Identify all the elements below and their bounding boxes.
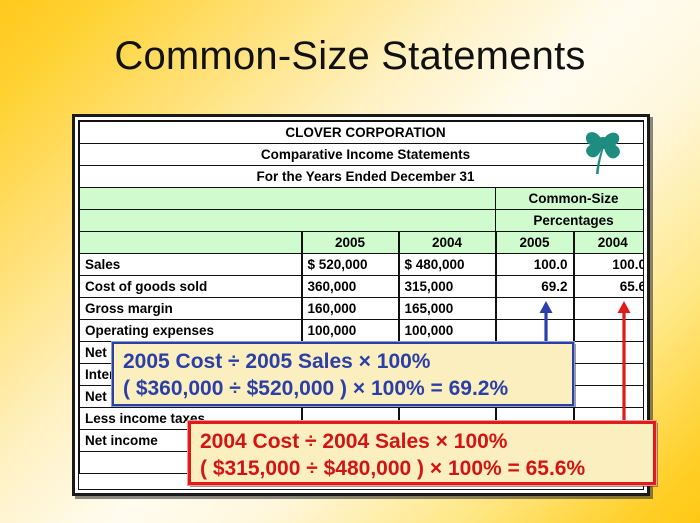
column-header-percent-2004: 2004 (574, 232, 645, 254)
row-percent-2004 (574, 320, 645, 342)
table-row: Operating expenses 100,000 100,000 (80, 320, 645, 342)
row-percent-2004 (574, 364, 645, 386)
table-row: Sales $ 520,000 $ 480,000 100.0 100.0 (80, 254, 645, 276)
row-percent-2005 (496, 320, 574, 342)
statement-period: For the Years Ended December 31 (80, 166, 645, 188)
row-percent-2004: 100.0 (574, 254, 645, 276)
column-header-row: 2005 2004 2005 2004 (80, 232, 645, 254)
column-header-amount-2005: 2005 (302, 232, 399, 254)
page-title: Common-Size Statements (0, 34, 700, 79)
blue-formula-line1: 2005 Cost ÷ 2005 Sales × 100% (123, 348, 563, 375)
blue-formula-callout: 2005 Cost ÷ 2005 Sales × 100% ( $360,000… (112, 342, 574, 406)
statement-subtitle: Comparative Income Statements (80, 144, 645, 166)
blue-formula-line2: ( $360,000 ÷ $520,000 ) × 100% = 69.2% (123, 375, 563, 402)
row-amount-2005: $ 520,000 (302, 254, 399, 276)
row-amount-2005: 100,000 (302, 320, 399, 342)
statement-title-row-period: For the Years Ended December 31 (80, 166, 645, 188)
red-formula-line1: 2004 Cost ÷ 2004 Sales × 100% (200, 428, 644, 455)
row-percent-2004 (574, 342, 645, 364)
column-header-percent-2005: 2005 (496, 232, 574, 254)
group-header-spacer-2 (80, 210, 496, 232)
row-percent-2005 (496, 298, 574, 320)
column-header-blank (80, 232, 302, 254)
row-amount-2004: 100,000 (399, 320, 496, 342)
table-row: Cost of goods sold 360,000 315,000 69.2 … (80, 276, 645, 298)
row-percent-2004-highlight: 65.6 (574, 276, 645, 298)
statement-title-row-company: CLOVER CORPORATION (80, 122, 645, 144)
column-header-amount-2004: 2004 (399, 232, 496, 254)
common-size-group-label-line1: Common-Size (496, 188, 645, 210)
statement-title-row-subtitle: Comparative Income Statements (80, 144, 645, 166)
slide-background: Common-Size Statements CLOVER CORPORATIO… (0, 0, 700, 523)
row-amount-2005: 360,000 (302, 276, 399, 298)
group-header-spacer (80, 188, 496, 210)
table-row: Gross margin 160,000 165,000 (80, 298, 645, 320)
row-amount-2004: $ 480,000 (399, 254, 496, 276)
row-percent-2004 (574, 386, 645, 408)
red-formula-line2: ( $315,000 ÷ $480,000 ) × 100% = 65.6% (200, 455, 644, 482)
row-label: Operating expenses (80, 320, 302, 342)
row-label: Cost of goods sold (80, 276, 302, 298)
row-percent-2005-highlight: 69.2 (496, 276, 574, 298)
company-name: CLOVER CORPORATION (80, 122, 645, 144)
row-percent-2004 (574, 298, 645, 320)
row-amount-2004: 315,000 (399, 276, 496, 298)
common-size-group-label-line2: Percentages (496, 210, 645, 232)
group-header-row-2: Percentages (80, 210, 645, 232)
row-label: Sales (80, 254, 302, 276)
row-amount-2004: 165,000 (399, 298, 496, 320)
row-label: Gross margin (80, 298, 302, 320)
group-header-row-1: Common-Size (80, 188, 645, 210)
red-formula-callout: 2004 Cost ÷ 2004 Sales × 100% ( $315,000… (188, 421, 656, 485)
row-percent-2005: 100.0 (496, 254, 574, 276)
row-amount-2005: 160,000 (302, 298, 399, 320)
